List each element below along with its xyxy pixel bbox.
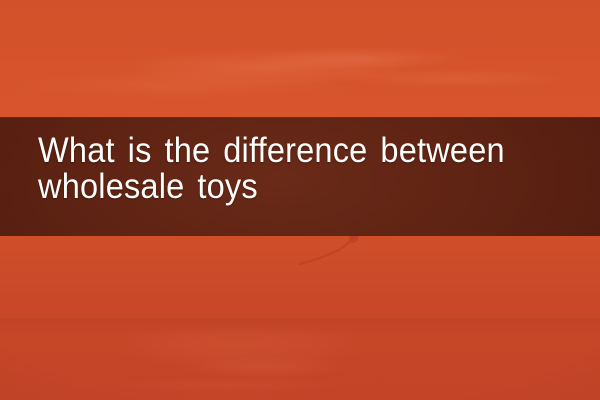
caption-text-block: What is the difference between wholesale…: [38, 133, 580, 205]
caption-line-2: wholesale toys: [38, 169, 542, 205]
image-canvas: What is the difference between wholesale…: [0, 0, 600, 400]
caption-banner: What is the difference between wholesale…: [0, 117, 600, 236]
caption-line-1: What is the difference between: [38, 133, 542, 169]
